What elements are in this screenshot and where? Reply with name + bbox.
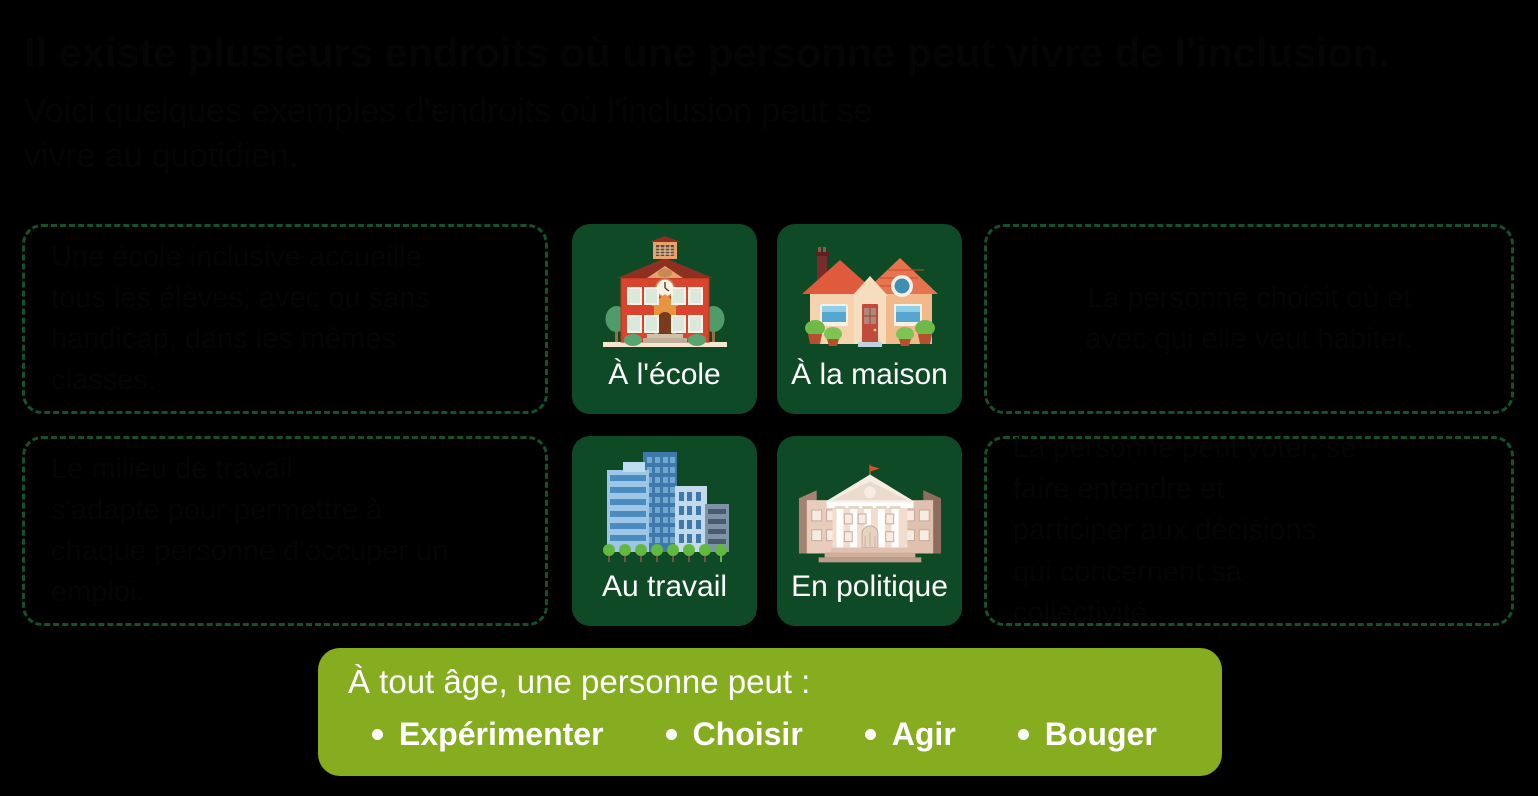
- card-label: Au travail: [602, 572, 727, 602]
- card-politics[interactable]: En politique: [777, 436, 962, 626]
- spacer: [962, 436, 984, 626]
- banner-item-label: Agir: [892, 716, 956, 753]
- spacer: [548, 224, 572, 414]
- description-line: tous les élèves, avec ou sans: [51, 278, 519, 319]
- card-home[interactable]: À la maison: [777, 224, 962, 414]
- spacer: [757, 224, 777, 414]
- description-line: La personne peut voter, se: [1013, 428, 1485, 469]
- banner-item-label: Bouger: [1045, 716, 1157, 753]
- description-line: handicap, dans les mêmes: [51, 319, 519, 360]
- description-line: Le milieu de travail: [51, 449, 519, 490]
- description-line: chaque personne d'occuper un: [51, 531, 519, 572]
- description-line: classes.: [51, 360, 519, 401]
- government-building-icon: [795, 448, 945, 566]
- description-panel-politics: La personne peut voter, se faire entendr…: [984, 436, 1514, 626]
- bullet-icon: [666, 729, 677, 740]
- spacer: [962, 224, 984, 414]
- description-line: collectivité.: [1013, 593, 1485, 634]
- bullet-icon: [372, 729, 383, 740]
- banner-title: À tout âge, une personne peut :: [348, 664, 1192, 700]
- banner-item: Choisir: [666, 716, 803, 753]
- summary-banner: À tout âge, une personne peut : Expérime…: [318, 648, 1222, 776]
- description-line: qui concernent sa: [1013, 552, 1485, 593]
- grid-row-top: Une école inclusive accueille tous les é…: [22, 224, 1516, 414]
- description-panel-home: La personne choisit où et avec qui elle …: [984, 224, 1514, 414]
- spacer: [548, 436, 572, 626]
- page-subtitle-line-1: Voici quelques exemples d'endroits où l'…: [24, 89, 1504, 133]
- banner-item: Expérimenter: [372, 716, 604, 753]
- spacer: [757, 436, 777, 626]
- heading-block: Il existe plusieurs endroits où une pers…: [24, 30, 1504, 178]
- description-line: faire entendre et: [1013, 469, 1485, 510]
- grid-row-bottom: Le milieu de travail s'adapte pour perme…: [22, 436, 1516, 626]
- banner-item-label: Choisir: [693, 716, 803, 753]
- description-panel-work: Le milieu de travail s'adapte pour perme…: [22, 436, 548, 626]
- banner-item: Agir: [865, 716, 956, 753]
- description-line: Une école inclusive accueille: [51, 237, 519, 278]
- banner-item-list: Expérimenter Choisir Agir Bouger: [348, 716, 1192, 753]
- page-title: Il existe plusieurs endroits où une pers…: [24, 30, 1504, 75]
- description-line: emploi.: [51, 572, 519, 613]
- content-grid: Une école inclusive accueille tous les é…: [22, 224, 1516, 626]
- office-buildings-icon: [590, 448, 740, 566]
- school-building-icon: [590, 236, 740, 354]
- description-line: avec qui elle veut habiter.: [1013, 319, 1485, 360]
- card-label: À l'école: [608, 360, 720, 390]
- infographic-canvas: Il existe plusieurs endroits où une pers…: [0, 0, 1538, 796]
- card-work[interactable]: Au travail: [572, 436, 757, 626]
- card-label: En politique: [791, 572, 948, 602]
- banner-item: Bouger: [1018, 716, 1157, 753]
- description-panel-school: Une école inclusive accueille tous les é…: [22, 224, 548, 414]
- description-line: participer aux décisions: [1013, 510, 1485, 551]
- description-line: La personne choisit où et: [1013, 278, 1485, 319]
- bullet-icon: [1018, 729, 1029, 740]
- banner-item-label: Expérimenter: [399, 716, 604, 753]
- description-line: s'adapte pour permettre à: [51, 490, 519, 531]
- card-school[interactable]: À l'école: [572, 224, 757, 414]
- house-icon: [795, 236, 945, 354]
- card-label: À la maison: [791, 360, 948, 390]
- page-subtitle-line-2: vivre au quotidien.: [24, 134, 1504, 178]
- bullet-icon: [865, 729, 876, 740]
